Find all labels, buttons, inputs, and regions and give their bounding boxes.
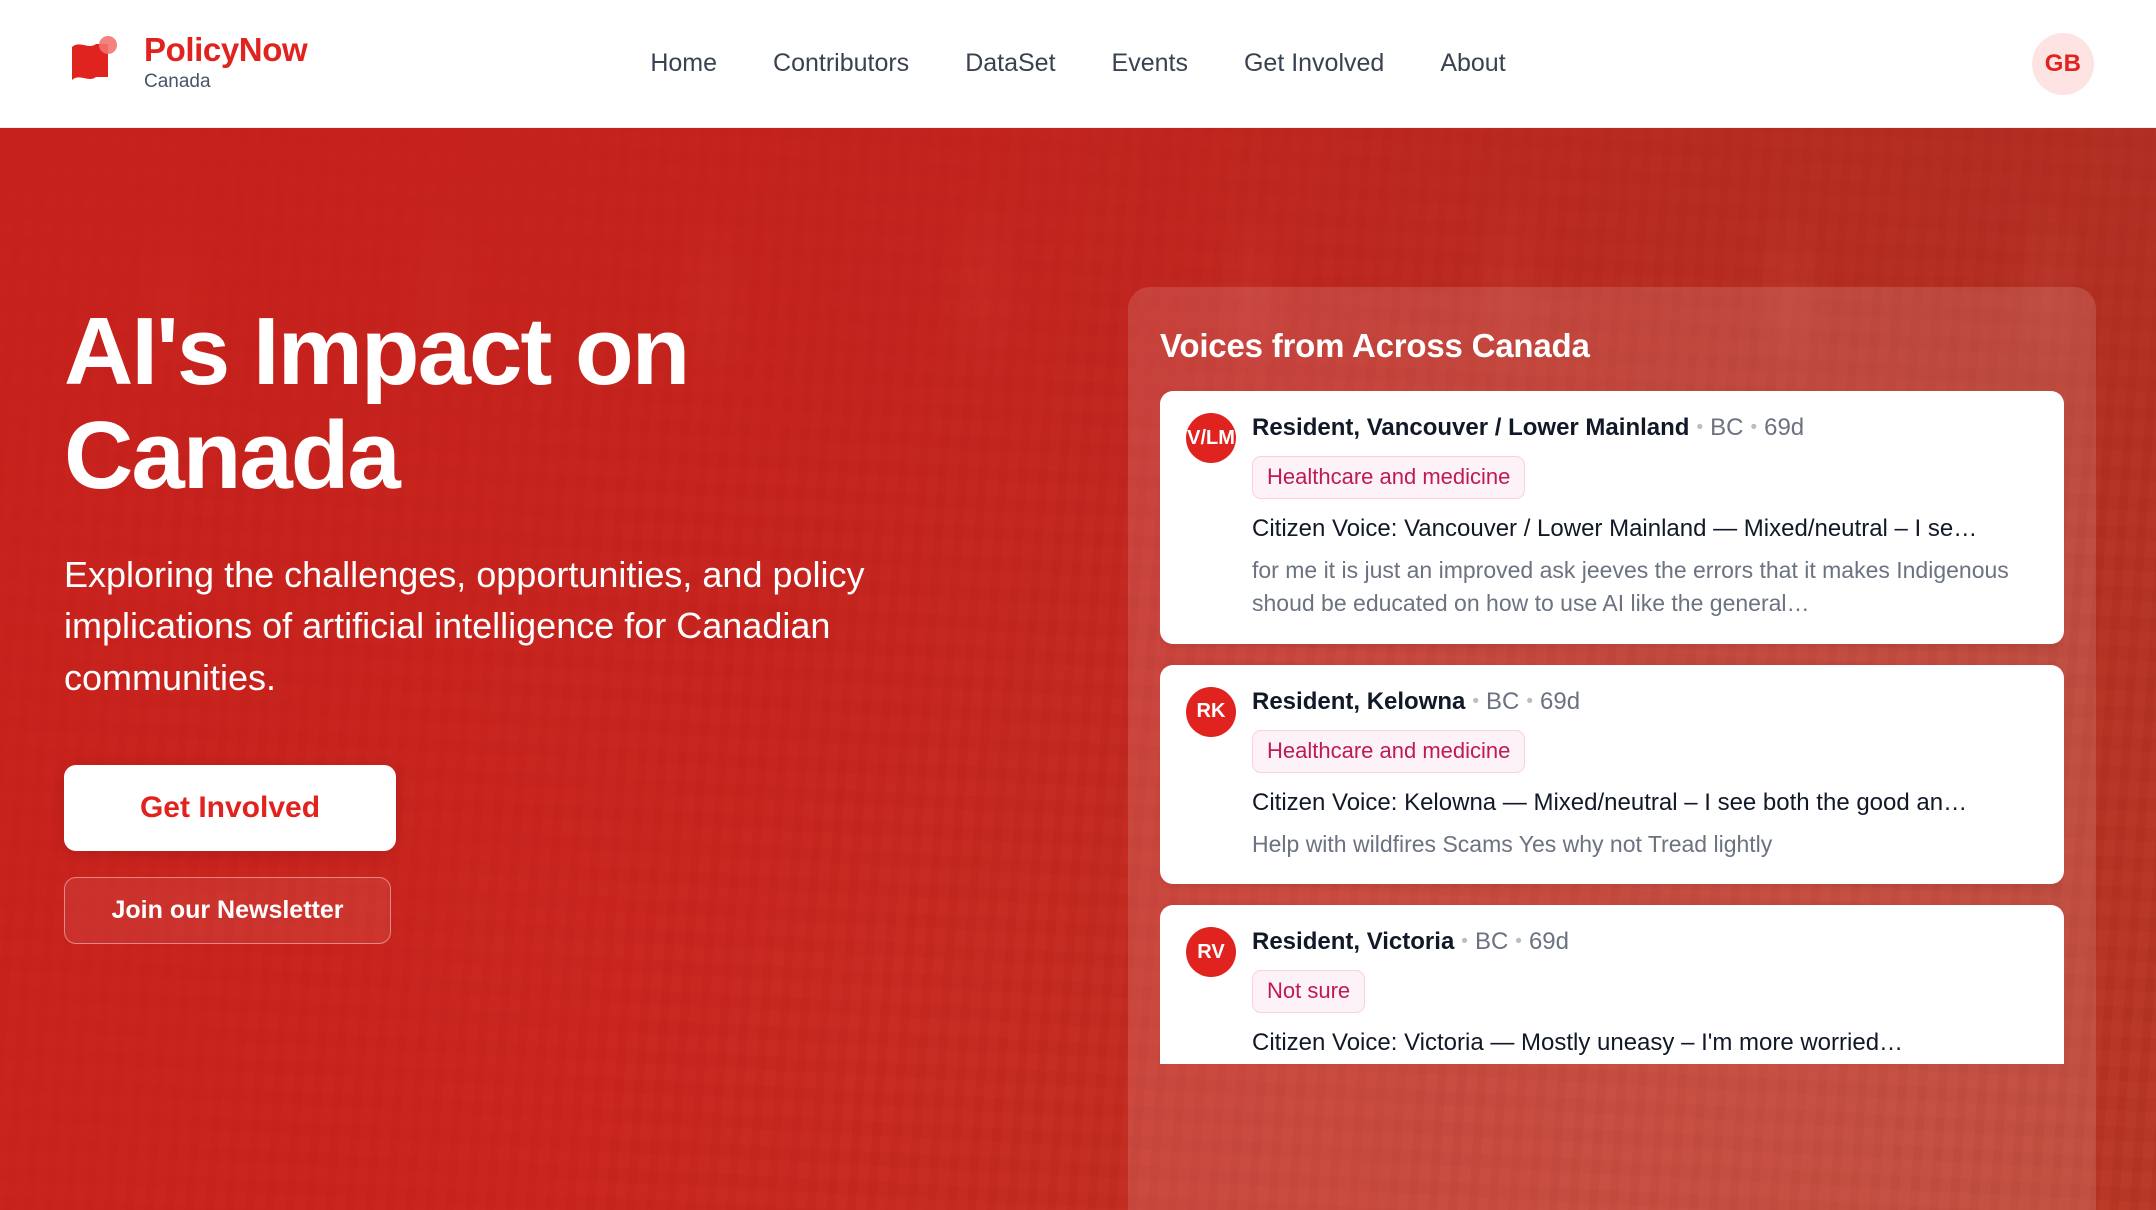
hero-subtitle: Exploring the challenges, opportunities,… — [64, 549, 999, 702]
voice-age: 69d — [1764, 414, 1804, 441]
voices-count-caption: Canadians have shared their thoughts — [1418, 1206, 1891, 1210]
voice-age: 69d — [1529, 928, 1569, 955]
voices-panel: Voices from Across Canada V/LM Resident,… — [1128, 287, 2096, 1210]
topic-tag[interactable]: Healthcare and medicine — [1252, 456, 1525, 499]
avatar: V/LM — [1186, 413, 1236, 463]
account-avatar[interactable]: GB — [2032, 33, 2094, 95]
separator-dot: • — [1515, 931, 1522, 952]
voice-card-meta: Resident, Vancouver / Lower Mainland•BC•… — [1252, 413, 2038, 443]
separator-dot: • — [1696, 417, 1703, 438]
get-involved-button[interactable]: Get Involved — [64, 765, 396, 851]
join-newsletter-button[interactable]: Join our Newsletter — [64, 877, 391, 944]
voices-count: 1,011 — [1333, 1204, 1409, 1210]
voice-author: Resident, Victoria — [1252, 928, 1454, 955]
avatar: RV — [1186, 927, 1236, 977]
main-nav: Home Contributors DataSet Events Get Inv… — [622, 39, 1533, 88]
voice-author: Resident, Kelowna — [1252, 688, 1465, 715]
nav-item-contributors[interactable]: Contributors — [745, 39, 937, 88]
brand-subtitle: Canada — [144, 70, 307, 94]
brand-name: PolicyNow — [144, 33, 307, 68]
hero-content: AI's Impact on Canada Exploring the chal… — [64, 300, 1044, 944]
voice-card[interactable]: RK Resident, Kelowna•BC•69d Healthcare a… — [1160, 665, 2064, 885]
flag-map-icon — [64, 33, 126, 95]
voice-excerpt: for me it is just an improved ask jeeves… — [1252, 554, 2038, 619]
voice-author: Resident, Vancouver / Lower Mainland — [1252, 414, 1689, 441]
voice-headline: Citizen Voice: Kelowna — Mixed/neutral –… — [1252, 787, 2038, 818]
hero-section: AI's Impact on Canada Exploring the chal… — [0, 128, 2156, 1210]
topic-tag[interactable]: Healthcare and medicine — [1252, 730, 1525, 773]
voice-card-meta: Resident, Kelowna•BC•69d — [1252, 687, 2038, 717]
voices-count-footer: 1,011 Canadians have shared their though… — [1128, 1159, 2096, 1210]
voices-panel-title: Voices from Across Canada — [1160, 327, 2096, 365]
hero-actions: Get Involved Join our Newsletter — [64, 765, 1044, 944]
voice-region: BC — [1486, 688, 1519, 715]
nav-item-dataset[interactable]: DataSet — [937, 39, 1083, 88]
voice-card-meta: Resident, Victoria•BC•69d — [1252, 927, 2038, 957]
nav-item-about[interactable]: About — [1412, 39, 1533, 88]
voice-excerpt: Help with wildfires Scams Yes why not Tr… — [1252, 828, 2038, 861]
nav-item-events[interactable]: Events — [1084, 39, 1216, 88]
voice-region: BC — [1710, 414, 1743, 441]
separator-dot: • — [1472, 691, 1479, 712]
voice-card[interactable]: RV Resident, Victoria•BC•69d Not sure Ci… — [1160, 905, 2064, 1064]
voice-region: BC — [1475, 928, 1508, 955]
voice-headline: Citizen Voice: Victoria — Mostly uneasy … — [1252, 1027, 2038, 1058]
voices-list[interactable]: V/LM Resident, Vancouver / Lower Mainlan… — [1160, 391, 2064, 1064]
brand-logo[interactable]: PolicyNow Canada — [64, 33, 307, 95]
separator-dot: • — [1461, 931, 1468, 952]
voice-headline: Citizen Voice: Vancouver / Lower Mainlan… — [1252, 513, 2038, 544]
separator-dot: • — [1526, 691, 1533, 712]
topic-tag[interactable]: Not sure — [1252, 970, 1365, 1013]
nav-item-home[interactable]: Home — [622, 39, 745, 88]
avatar: RK — [1186, 687, 1236, 737]
voice-age: 69d — [1540, 688, 1580, 715]
site-header: PolicyNow Canada Home Contributors DataS… — [0, 0, 2156, 128]
separator-dot: • — [1750, 417, 1757, 438]
nav-item-get-involved[interactable]: Get Involved — [1216, 39, 1412, 88]
voice-card[interactable]: V/LM Resident, Vancouver / Lower Mainlan… — [1160, 391, 2064, 644]
page-title: AI's Impact on Canada — [64, 300, 1044, 507]
